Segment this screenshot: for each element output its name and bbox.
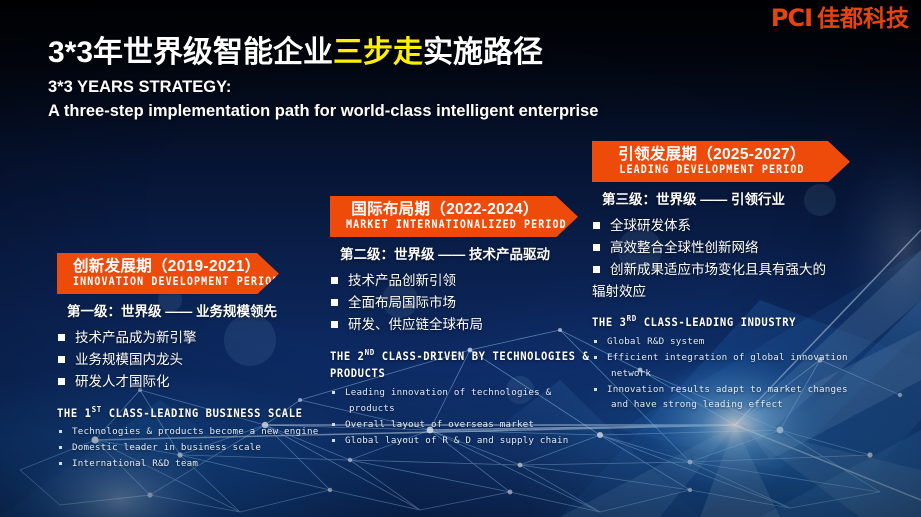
step-1-body: 第一级：世界级 —— 业务规模领先 技术产品成为新引擎 业务规模国内龙头 研发人… <box>57 294 357 471</box>
step-2-banner-title-en: MARKET INTERNATIONALIZED PERIOD <box>346 220 544 233</box>
list-item: Overall layout of overseas market <box>330 417 608 433</box>
step-card-1: 创新发展期（2019-2021） INNOVATION DEVELOPMENT … <box>57 253 357 472</box>
slide-header: 3*3年世界级智能企业三步走实施路径 3*3 YEARS STRATEGY: A… <box>48 36 768 122</box>
step-3-banner-title-en: LEADING DEVELOPMENT PERIOD <box>608 165 816 178</box>
step-card-2: 国际布局期（2022-2024） MARKET INTERNATIONALIZE… <box>330 196 608 449</box>
list-item-text: Leading innovation of technologies & <box>345 387 551 398</box>
list-item-text: Innovation results adapt to market chang… <box>607 384 848 395</box>
list-item: 业务规模国内龙头 <box>57 349 357 371</box>
list-item: International R&D team <box>57 456 357 472</box>
step-3-banner: 引领发展期（2025-2027） LEADING DEVELOPMENT PER… <box>592 141 850 182</box>
step-1-en-heading-pre: THE 1 <box>57 406 92 419</box>
list-item-text: 创新成果适应市场变化且具有强大的 <box>610 262 826 277</box>
step-1-banner-title-cn: 创新发展期（2019-2021） <box>73 257 245 276</box>
list-item: Global R&D system <box>592 334 892 350</box>
logo-mark-text: PCI <box>771 6 812 30</box>
list-item: 全球研发体系 <box>592 215 892 237</box>
step-3-en-heading-ordinal: RD <box>627 314 637 324</box>
step-2-banner-title-cn: 国际布局期（2022-2024） <box>346 200 544 219</box>
step-2-en-bullets: Leading innovation of technologies &prod… <box>330 385 608 448</box>
step-1-en-heading-post: CLASS-LEADING BUSINESS SCALE <box>102 406 303 419</box>
list-item: Innovation results adapt to market chang… <box>592 382 892 414</box>
list-item-text: Efficient integration of global innovati… <box>607 352 848 363</box>
step-1-level-label: 第一级：世界级 —— 业务规模领先 <box>67 303 357 321</box>
page-title-cn: 3*3年世界级智能企业三步走实施路径 <box>48 36 768 71</box>
title-cn-highlight: 三步走 <box>333 36 423 69</box>
step-1-banner: 创新发展期（2019-2021） INNOVATION DEVELOPMENT … <box>57 253 279 294</box>
list-item: 技术产品创新引领 <box>330 270 608 292</box>
step-2-en-heading-line2: PRODUCTS <box>330 366 608 383</box>
step-3-en-heading: THE 3RD CLASS-LEADING INDUSTRY <box>592 314 892 332</box>
step-3-banner-title-cn: 引领发展期（2025-2027） <box>608 145 816 164</box>
company-logo: PCI 佳都科技 <box>771 6 909 30</box>
step-1-en-bullets: Technologies & products become a new eng… <box>57 424 357 471</box>
step-1-banner-title-en: INNOVATION DEVELOPMENT PERIOD <box>73 277 245 290</box>
title-cn-post: 实施路径 <box>423 36 543 69</box>
title-cn-pre: 3*3年世界级智能企业 <box>48 36 333 69</box>
list-item-continuation: and have strong leading effect <box>607 397 892 413</box>
list-item: Global layout of R & D and supply chain <box>330 433 608 449</box>
step-2-en-heading-pre: THE 2 <box>330 349 365 362</box>
list-item: 创新成果适应市场变化且具有强大的辐射效应 <box>592 259 892 303</box>
list-item-continuation: network <box>607 366 892 382</box>
list-item: 技术产品成为新引擎 <box>57 327 357 349</box>
list-item-continuation: 辐射效应 <box>592 281 892 303</box>
list-item: 全面布局国际市场 <box>330 292 608 314</box>
list-item: 高效整合全球性创新网络 <box>592 237 892 259</box>
step-3-en-bullets: Global R&D system Efficient integration … <box>592 334 892 413</box>
step-2-banner: 国际布局期（2022-2024） MARKET INTERNATIONALIZE… <box>330 196 578 237</box>
list-item-continuation: products <box>345 401 608 417</box>
step-1-cn-bullets: 技术产品成为新引擎 业务规模国内龙头 研发人才国际化 <box>57 327 357 393</box>
list-item: Technologies & products become a new eng… <box>57 424 357 440</box>
step-2-cn-bullets: 技术产品创新引领 全面布局国际市场 研发、供应链全球布局 <box>330 270 608 336</box>
step-card-3: 引领发展期（2025-2027） LEADING DEVELOPMENT PER… <box>592 141 892 413</box>
step-3-body: 第三级：世界级 —— 引领行业 全球研发体系 高效整合全球性创新网络 创新成果适… <box>592 182 892 413</box>
step-3-level-label: 第三级：世界级 —— 引领行业 <box>602 191 892 209</box>
list-item: Domestic leader in business scale <box>57 440 357 456</box>
step-2-en-heading-post: CLASS-DRIVEN BY TECHNOLOGIES & <box>375 349 590 362</box>
page-subtitle-en-line2: A three-step implementation path for wor… <box>48 100 768 122</box>
step-1-en-heading: THE 1ST CLASS-LEADING BUSINESS SCALE <box>57 404 357 422</box>
step-3-en-heading-pre: THE 3 <box>592 316 627 329</box>
list-item: 研发人才国际化 <box>57 371 357 393</box>
step-1-en-heading-ordinal: ST <box>92 404 102 414</box>
step-3-en-heading-post: CLASS-LEADING INDUSTRY <box>637 316 796 329</box>
step-2-en-heading-ordinal: ND <box>365 347 375 357</box>
step-2-level-label: 第二级：世界级 —— 技术产品驱动 <box>340 246 608 264</box>
step-3-cn-bullets: 全球研发体系 高效整合全球性创新网络 创新成果适应市场变化且具有强大的辐射效应 <box>592 215 892 302</box>
list-item: Efficient integration of global innovati… <box>592 350 892 382</box>
logo-company-name: 佳都科技 <box>817 7 909 30</box>
list-item: 研发、供应链全球布局 <box>330 314 608 336</box>
step-2-en-heading: THE 2ND CLASS-DRIVEN BY TECHNOLOGIES & <box>330 347 608 365</box>
slide-canvas: PCI 佳都科技 3*3年世界级智能企业三步走实施路径 3*3 YEARS ST… <box>0 0 921 517</box>
list-item: Leading innovation of technologies &prod… <box>330 385 608 417</box>
step-2-body: 第二级：世界级 —— 技术产品驱动 技术产品创新引领 全面布局国际市场 研发、供… <box>330 237 608 448</box>
page-subtitle-en-line1: 3*3 YEARS STRATEGY: <box>48 76 768 98</box>
